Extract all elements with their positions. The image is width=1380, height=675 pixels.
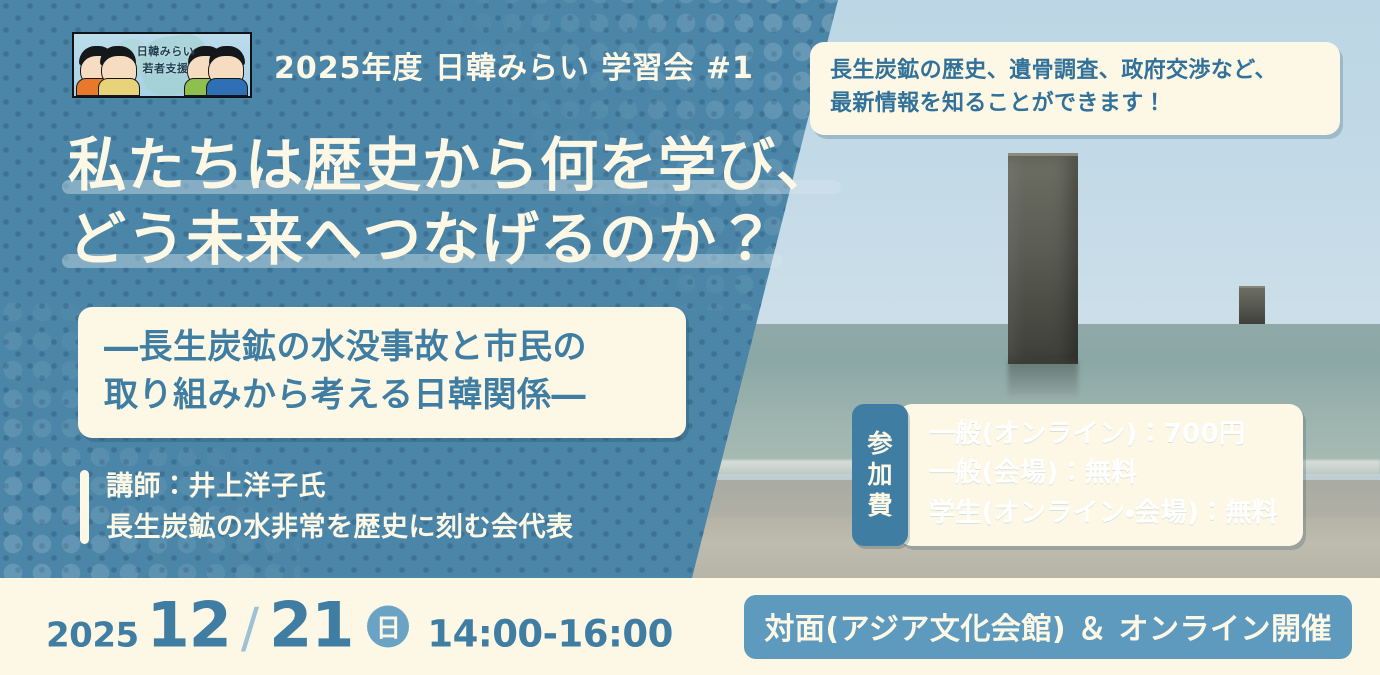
speaker-name: 講師：井上洋子氏: [106, 466, 574, 507]
day-of-week-badge: 日: [367, 606, 409, 648]
event-date-group: 2025 12 / 21 日 14:00-16:00: [46, 594, 673, 659]
fee-label-char-2: 加: [867, 461, 892, 489]
highlight-note-box: 長生炭鉱の歴史、遺骨調査、政府交渉など、 最新情報を知ることができます！: [810, 42, 1340, 135]
event-month: 12: [147, 594, 231, 656]
event-poster: 日韓みらい 若者支援 2025年度 日韓みらい 学習会 #1 私たちは歴史から何…: [0, 0, 1380, 675]
event-time: 14:00-16:00: [427, 612, 672, 655]
page-title: 私たちは歴史から何を学び、 どう未来へつなげるのか？: [62, 128, 782, 276]
logo-text-line1: 日韓みらい: [127, 43, 204, 60]
title-line-1: 私たちは歴史から何を学び、: [62, 128, 841, 202]
fee-list: 一般(オンライン)：700円 一般(会場)：無料 学生(オンライン・会場)：無料: [898, 404, 1303, 546]
logo-face-icon-4: [202, 46, 248, 96]
title-line-2: どう未来へつなげるのか？: [62, 202, 782, 276]
note-line-2: 最新情報を知ることができます！: [830, 88, 1322, 121]
mine-shaft-reflection: [1008, 361, 1079, 396]
fee-item-student: 学生(オンライン・会場)：無料: [926, 495, 1281, 532]
logo-text-line2: 若者支援: [127, 60, 204, 77]
event-day: 21: [269, 594, 353, 656]
note-line-1: 長生炭鉱の歴史、遺骨調査、政府交渉など、: [830, 55, 1322, 88]
mine-shaft-small-icon: [1239, 286, 1265, 324]
organization-logo: 日韓みらい 若者支援: [72, 32, 252, 98]
venue-pill: 対面(アジア文化会館) ＆ オンライン開催: [744, 595, 1352, 659]
fee-item-general-online: 一般(オンライン)：700円: [926, 416, 1248, 453]
mine-shaft-large-icon: [1008, 153, 1079, 364]
participation-fee-block: 参 加 費 一般(オンライン)：700円 一般(会場)：無料 学生(オンライン・…: [852, 404, 1303, 546]
fee-label-badge: 参 加 費: [852, 404, 908, 546]
header-row: 日韓みらい 若者支援 2025年度 日韓みらい 学習会 #1: [72, 32, 754, 98]
speaker-affiliation: 長生炭鉱の水非常を歴史に刻む会代表: [106, 507, 574, 548]
event-year: 2025: [46, 615, 139, 655]
date-separator: /: [241, 596, 259, 659]
fee-item-general-venue: 一般(会場)：無料: [926, 455, 1140, 492]
subtitle-line-1: ―長生炭鉱の水没事故と市民の: [104, 323, 666, 371]
fee-label-char-3: 費: [867, 492, 892, 520]
speaker-block: 講師：井上洋子氏 長生炭鉱の水非常を歴史に刻む会代表: [80, 466, 574, 548]
event-series-kicker: 2025年度 日韓みらい 学習会 #1: [274, 43, 754, 87]
logo-text: 日韓みらい 若者支援: [127, 43, 204, 77]
fee-label-char-1: 参: [867, 430, 892, 458]
footer-bar: 2025 12 / 21 日 14:00-16:00 対面(アジア文化会館) ＆…: [0, 578, 1380, 675]
subtitle-box: ―長生炭鉱の水没事故と市民の 取り組みから考える日韓関係―: [78, 307, 686, 438]
subtitle-line-2: 取り組みから考える日韓関係―: [104, 371, 666, 419]
